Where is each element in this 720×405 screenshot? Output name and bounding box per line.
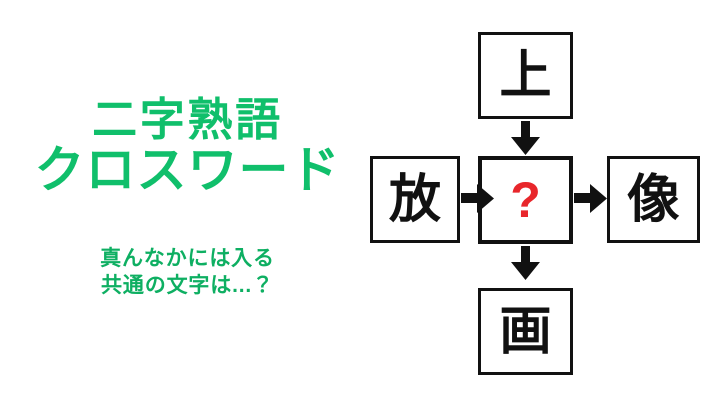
slide-canvas: 二字熟語 クロスワード 真んなかには入る 共通の文字は...？ 上 放 ? 像 … [0,0,720,405]
puzzle-cell-top[interactable]: 上 [478,32,573,119]
puzzle-cell-bottom-char: 画 [499,306,551,358]
puzzle-cell-right[interactable]: 像 [607,156,700,243]
subtitle-line-1: 真んなかには入る [0,246,375,273]
arrow-down-icon [510,121,541,156]
arrow-right-icon [461,183,495,214]
puzzle-cell-center-char: ? [510,175,541,225]
puzzle-cell-left-char: 放 [389,174,441,226]
subtitle-line-2: 共通の文字は...？ [0,273,375,300]
puzzle-cell-left[interactable]: 放 [370,156,460,243]
title-block: 二字熟語 クロスワード [0,96,375,197]
puzzle-cell-top-char: 上 [499,50,551,102]
puzzle-cell-bottom[interactable]: 画 [478,288,573,375]
title-line-2: クロスワード [0,144,375,197]
arrow-down-icon [510,246,541,281]
subtitle-block: 真んなかには入る 共通の文字は...？ [0,246,375,300]
kanji-crossword-diagram: 上 放 ? 像 画 [360,0,720,405]
puzzle-cell-right-char: 像 [627,174,679,226]
arrow-right-icon [574,183,608,214]
title-line-1: 二字熟語 [0,96,375,144]
